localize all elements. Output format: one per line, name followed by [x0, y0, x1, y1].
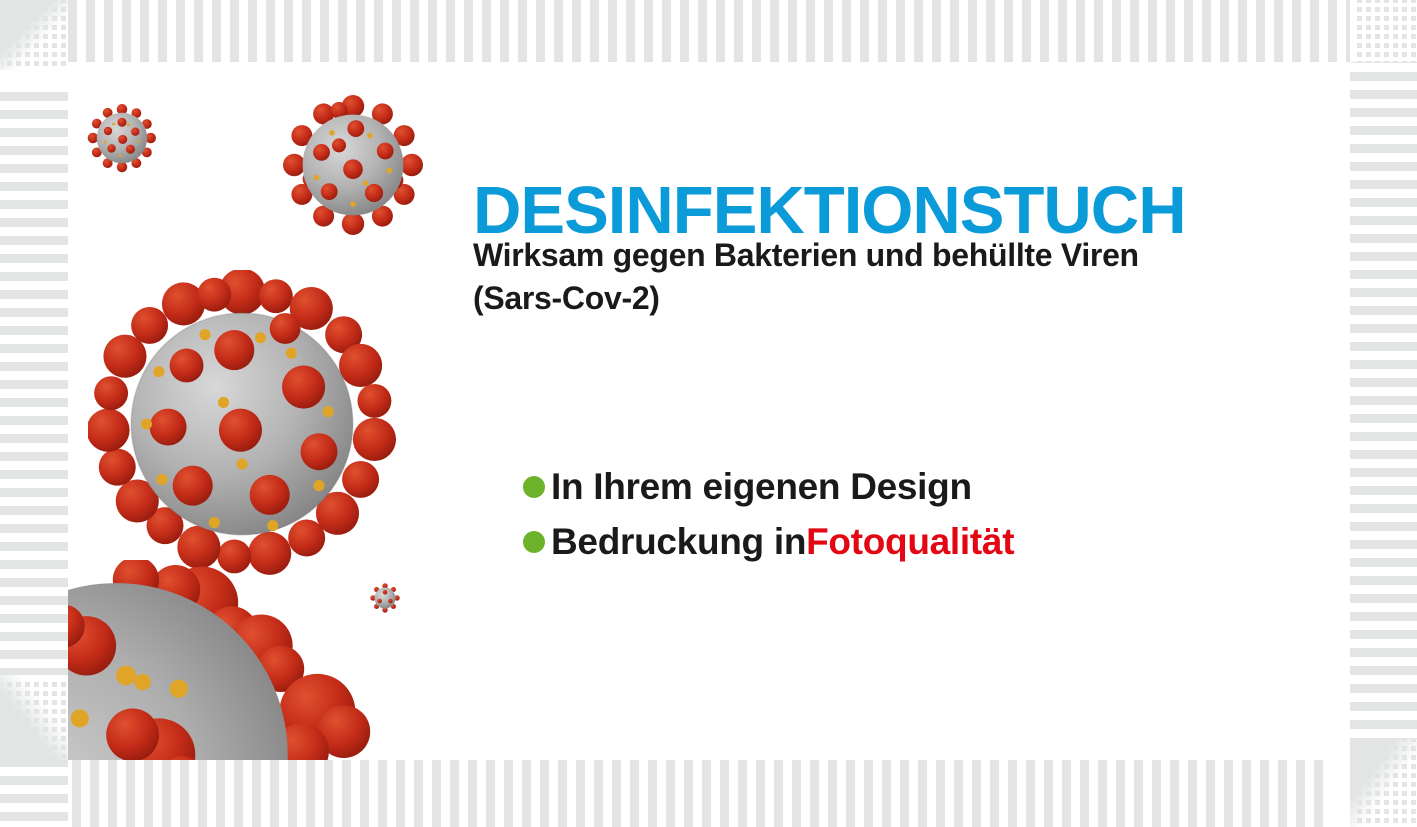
border-band-top — [68, 0, 1417, 62]
list-item-label: Bedruckung in — [551, 515, 806, 570]
border-band-bottom — [0, 760, 1325, 827]
feature-list: In Ihrem eigenen Design Bedruckung in Fo… — [523, 460, 1014, 570]
virus-large-left — [88, 270, 396, 578]
subtitle: Wirksam gegen Bakterien und behüllte Vir… — [473, 234, 1323, 319]
border-corner-top-right-dots — [1350, 0, 1417, 62]
border-corner-bottom-left-dots — [0, 675, 68, 760]
list-item-highlight: Fotoqualität — [806, 515, 1014, 570]
border-band-left — [0, 92, 68, 827]
bullet-dot-icon — [523, 476, 545, 498]
virus-medium-top — [283, 95, 423, 235]
content-panel: DESINFEKTIONSTUCH Wirksam gegen Bakterie… — [68, 62, 1350, 760]
border-corner-bottom-right-dots — [1350, 739, 1417, 827]
slide-canvas: DESINFEKTIONSTUCH Wirksam gegen Bakterie… — [0, 0, 1417, 827]
border-band-right — [1350, 0, 1417, 739]
list-item: In Ihrem eigenen Design — [523, 460, 1014, 515]
border-corner-top-left-dots — [0, 0, 68, 70]
subtitle-line-2: (Sars-Cov-2) — [473, 277, 1323, 320]
list-item-label: In Ihrem eigenen Design — [551, 460, 972, 515]
virus-closeup-bottom-left — [68, 560, 390, 760]
bullet-dot-icon — [523, 531, 545, 553]
list-item: Bedruckung in Fotoqualität — [523, 515, 1014, 570]
virus-small-top-left — [87, 103, 157, 173]
subtitle-line-1: Wirksam gegen Bakterien und behüllte Vir… — [473, 234, 1323, 277]
